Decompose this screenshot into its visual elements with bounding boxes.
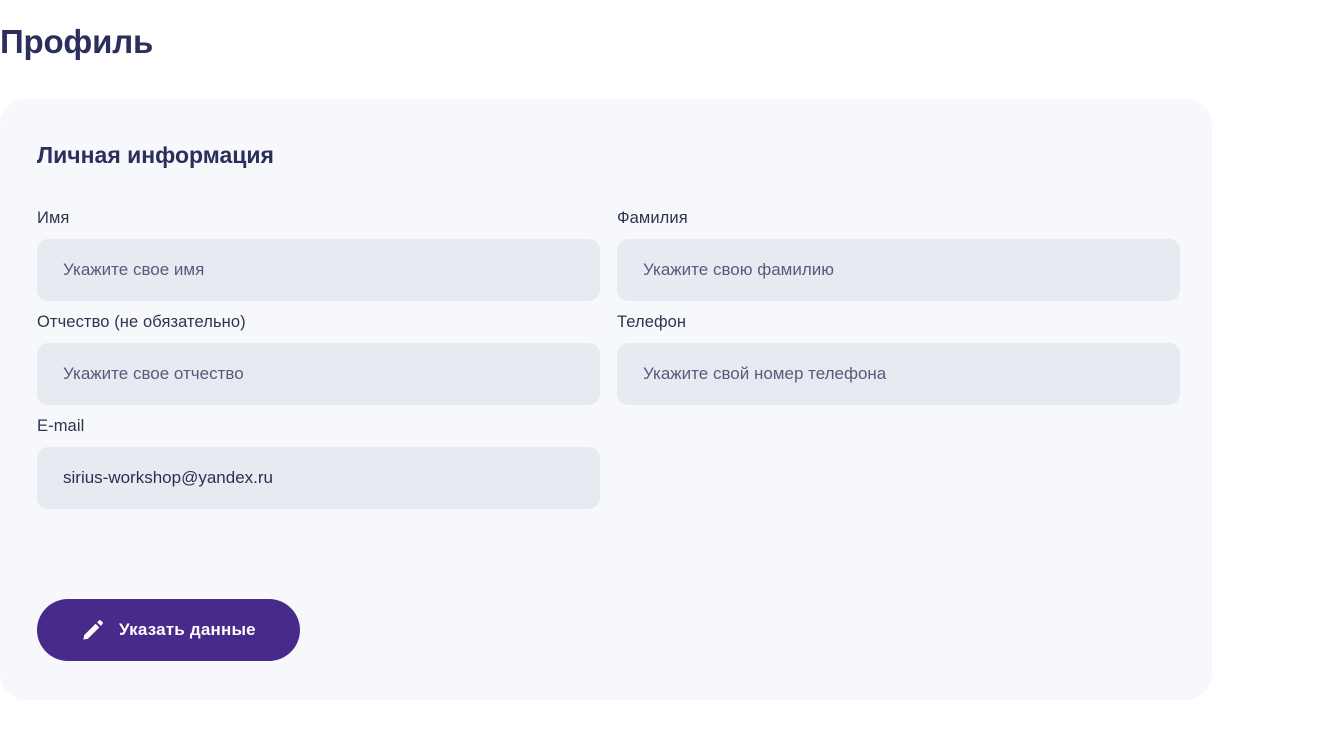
- field-last-name: Фамилия: [617, 207, 1180, 301]
- submit-row: Указать данные: [37, 599, 300, 661]
- last-name-input[interactable]: [617, 239, 1180, 301]
- page-title: Профиль: [0, 22, 153, 62]
- field-phone: Телефон: [617, 311, 1180, 405]
- field-label-first-name: Имя: [37, 207, 600, 229]
- pencil-icon: [81, 618, 105, 642]
- first-name-input[interactable]: [37, 239, 600, 301]
- personal-information-card: Личная информация Имя Фамилия Отчество (…: [0, 99, 1212, 700]
- phone-input[interactable]: [617, 343, 1180, 405]
- email-input[interactable]: [37, 447, 600, 509]
- field-label-email: E-mail: [37, 415, 600, 437]
- field-label-last-name: Фамилия: [617, 207, 1180, 229]
- field-middle-name: Отчество (не обязательно): [37, 311, 600, 405]
- card-title: Личная информация: [37, 140, 274, 170]
- submit-button-label: Указать данные: [119, 620, 256, 640]
- field-first-name: Имя: [37, 207, 600, 301]
- personal-information-form: Имя Фамилия Отчество (не обязательно) Те…: [37, 207, 1180, 519]
- field-label-middle-name: Отчество (не обязательно): [37, 311, 600, 333]
- middle-name-input[interactable]: [37, 343, 600, 405]
- form-row: Имя Фамилия: [37, 207, 1180, 301]
- profile-page: Профиль Личная информация Имя Фамилия От…: [0, 0, 1317, 730]
- submit-data-button[interactable]: Указать данные: [37, 599, 300, 661]
- field-email: E-mail: [37, 415, 600, 509]
- form-row: Отчество (не обязательно) Телефон: [37, 311, 1180, 405]
- form-row: E-mail: [37, 415, 1180, 509]
- field-label-phone: Телефон: [617, 311, 1180, 333]
